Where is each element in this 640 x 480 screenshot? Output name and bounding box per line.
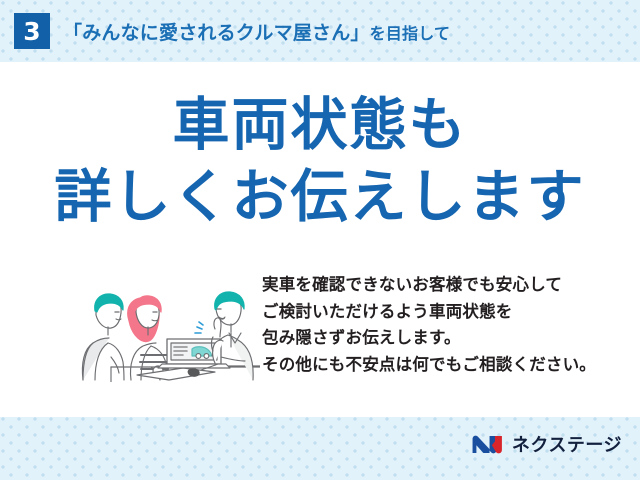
page-title-suffix: を目指して (370, 26, 451, 43)
page-title: 「みんなに愛されるクルマ屋さん」を目指して (63, 18, 450, 45)
nextage-logo-text: ネクステージ (512, 431, 622, 457)
nextage-logo: ネクステージ (471, 431, 622, 457)
headline-line-2: 詳しくお伝えします (0, 167, 640, 229)
headline: 車両状態も 詳しくお伝えします (0, 95, 640, 228)
lower-content: 実車を確認できないお客様でも安心して ご検討いただけるよう車両状態を 包み隠さず… (0, 267, 640, 402)
consultation-illustration (55, 267, 260, 382)
body-line-3: 包み隠さずお伝えします。 (262, 325, 622, 352)
headline-line-1: 車両状態も (0, 95, 640, 157)
page-background: 3 「みんなに愛されるクルマ屋さん」を目指して 車両状態も 詳しくお伝えします (0, 0, 640, 480)
consultation-illustration-svg (55, 267, 260, 382)
body-line-2: ご検討いただけるよう車両状態を (262, 299, 622, 326)
header-bar: 3 「みんなに愛されるクルマ屋さん」を目指して (0, 0, 640, 62)
body-line-1: 実車を確認できないお客様でも安心して (262, 272, 622, 299)
step-number-badge: 3 (14, 13, 50, 49)
page-title-main: 「みんなに愛されるクルマ屋さん」 (63, 23, 370, 44)
nextage-n-logo-icon (471, 432, 505, 457)
content-panel: 車両状態も 詳しくお伝えします (0, 62, 640, 417)
footer-bar: ネクステージ (0, 417, 640, 480)
body-copy: 実車を確認できないお客様でも安心して ご検討いただけるよう車両状態を 包み隠さず… (262, 272, 622, 379)
body-line-4: その他にも不安点は何でもご相談ください。 (262, 352, 622, 379)
